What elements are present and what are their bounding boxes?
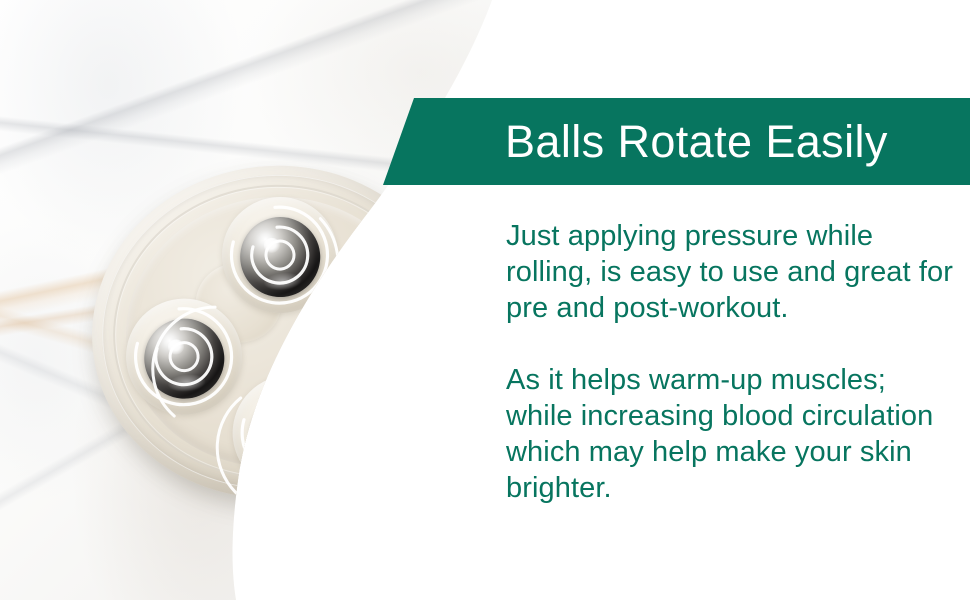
headline-banner: Balls Rotate Easily (383, 98, 970, 185)
copy-paragraph-2: As it helps warm-up muscles; while incre… (506, 362, 958, 506)
headline-title: Balls Rotate Easily (505, 116, 888, 168)
copy-paragraph-1: Just applying pressure while rolling, is… (506, 218, 958, 326)
ball-highlight-left (167, 339, 184, 355)
ball-highlight-bottom (274, 415, 291, 431)
chrome-ball-left (140, 315, 228, 403)
ball-socket-bottom (227, 369, 354, 496)
chrome-ball-bottom (247, 391, 335, 479)
promo-banner-root: Balls Rotate Easily Just applying pressu… (0, 0, 970, 600)
ball-socket-right (325, 276, 452, 403)
ball-highlight-top (263, 237, 280, 253)
chrome-ball-top (236, 213, 324, 301)
spiral-icon-right (304, 287, 444, 425)
chrome-ball-right (345, 299, 433, 387)
ball-highlight-right (372, 323, 389, 339)
body-copy-block: Just applying pressure while rolling, is… (506, 218, 958, 506)
